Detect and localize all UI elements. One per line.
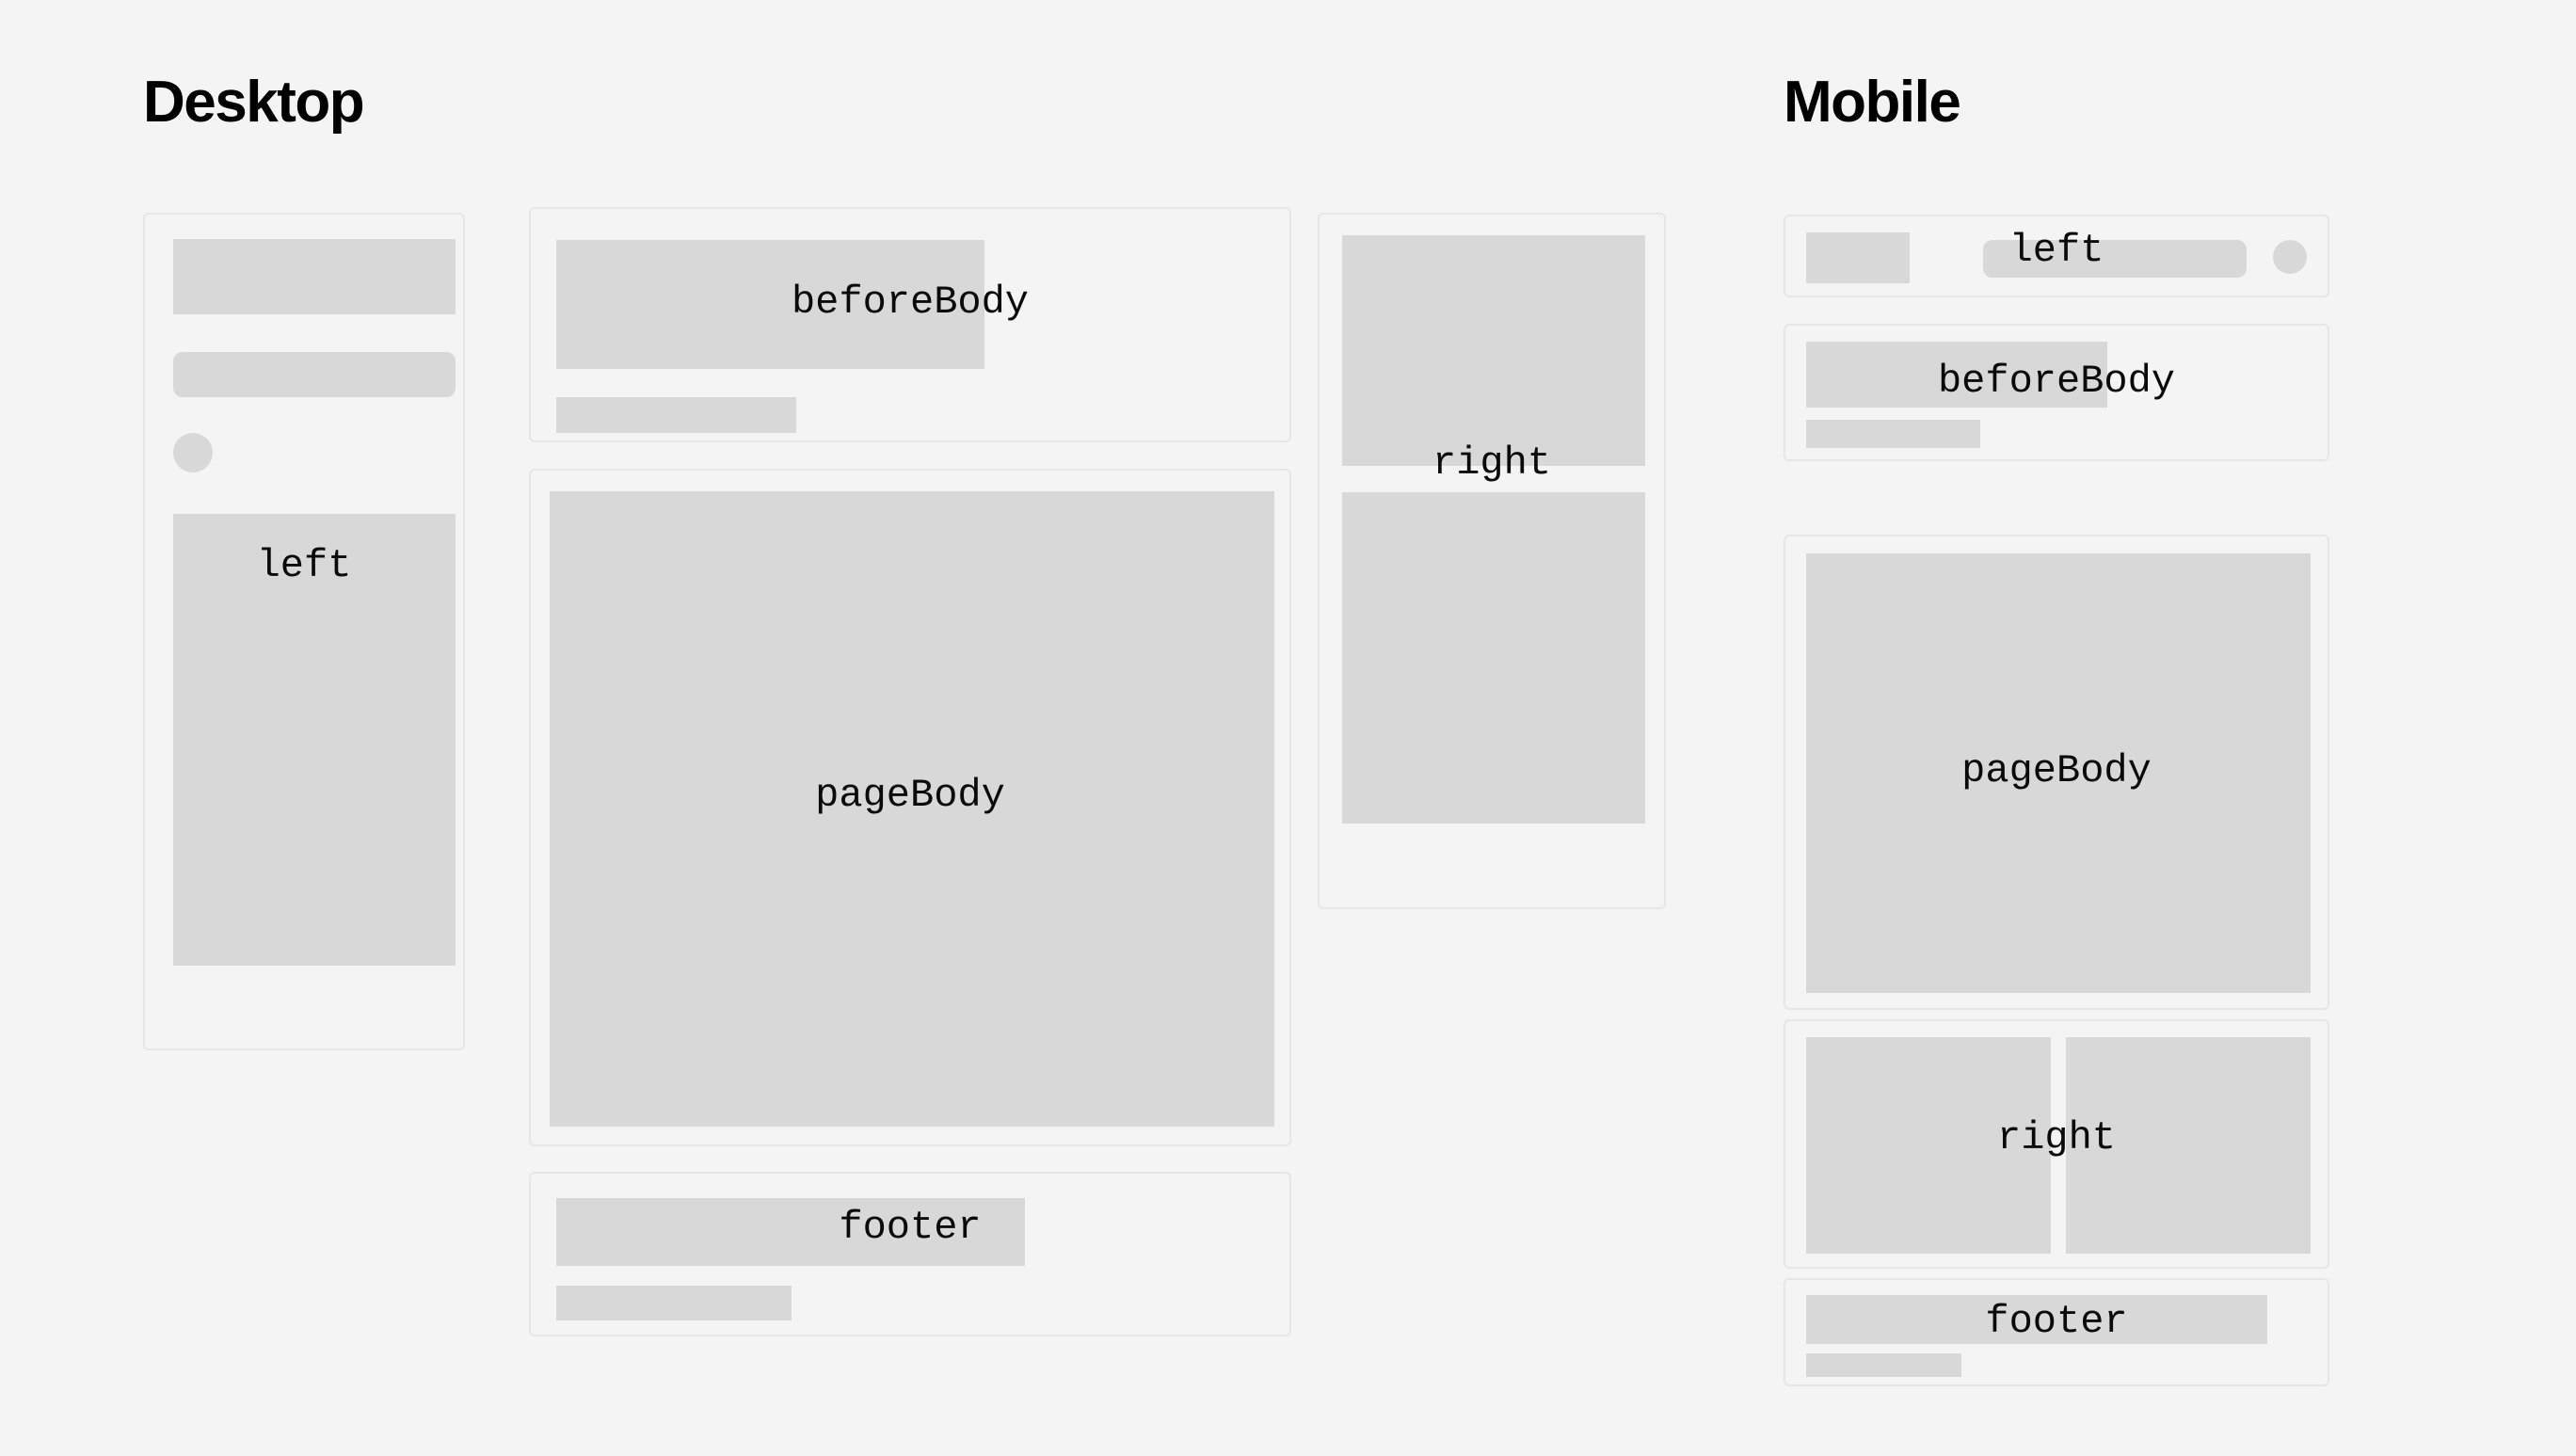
skeleton-avatar-dot-icon — [2273, 240, 2307, 274]
skeleton-block-top — [1342, 235, 1645, 466]
skeleton-block-large — [173, 239, 456, 314]
skeleton-block-caption — [556, 1286, 792, 1320]
skeleton-block-bar — [1983, 240, 2247, 278]
skeleton-block-caption — [1806, 1353, 1961, 1377]
desktop-footer-region-card — [529, 1172, 1291, 1336]
skeleton-block-image — [1806, 1295, 2267, 1344]
mobile-footer-region-card — [1784, 1278, 2329, 1386]
skeleton-block-image — [556, 240, 984, 369]
skeleton-block-main — [1806, 553, 2311, 993]
skeleton-block-caption — [556, 397, 796, 433]
desktop-left-region-card — [143, 213, 465, 1050]
mobile-left-region-card — [1784, 215, 2329, 297]
skeleton-block-tall — [173, 514, 456, 966]
skeleton-block-col-right — [2066, 1037, 2311, 1254]
skeleton-block-image — [1806, 342, 2107, 408]
mobile-section-heading: Mobile — [1784, 73, 1960, 132]
mobile-right-region-card — [1784, 1019, 2329, 1269]
skeleton-block-main — [550, 491, 1274, 1127]
skeleton-block-col-left — [1806, 1037, 2051, 1254]
desktop-beforebody-region-card — [529, 207, 1291, 442]
skeleton-avatar-dot-icon — [173, 433, 213, 472]
desktop-pagebody-region-card — [529, 469, 1291, 1146]
skeleton-block-image — [556, 1198, 1025, 1266]
skeleton-block-caption — [1806, 420, 1980, 448]
mobile-pagebody-region-card — [1784, 535, 2329, 1010]
desktop-right-region-card — [1318, 213, 1666, 909]
mobile-beforebody-region-card — [1784, 324, 2329, 461]
desktop-section-heading: Desktop — [143, 73, 363, 132]
skeleton-block-large — [1806, 232, 1910, 283]
layout-comparison-canvas: Desktop left beforeBody pageBody footer … — [0, 0, 2576, 1456]
skeleton-block-bar — [173, 352, 456, 397]
skeleton-block-bottom — [1342, 492, 1645, 824]
